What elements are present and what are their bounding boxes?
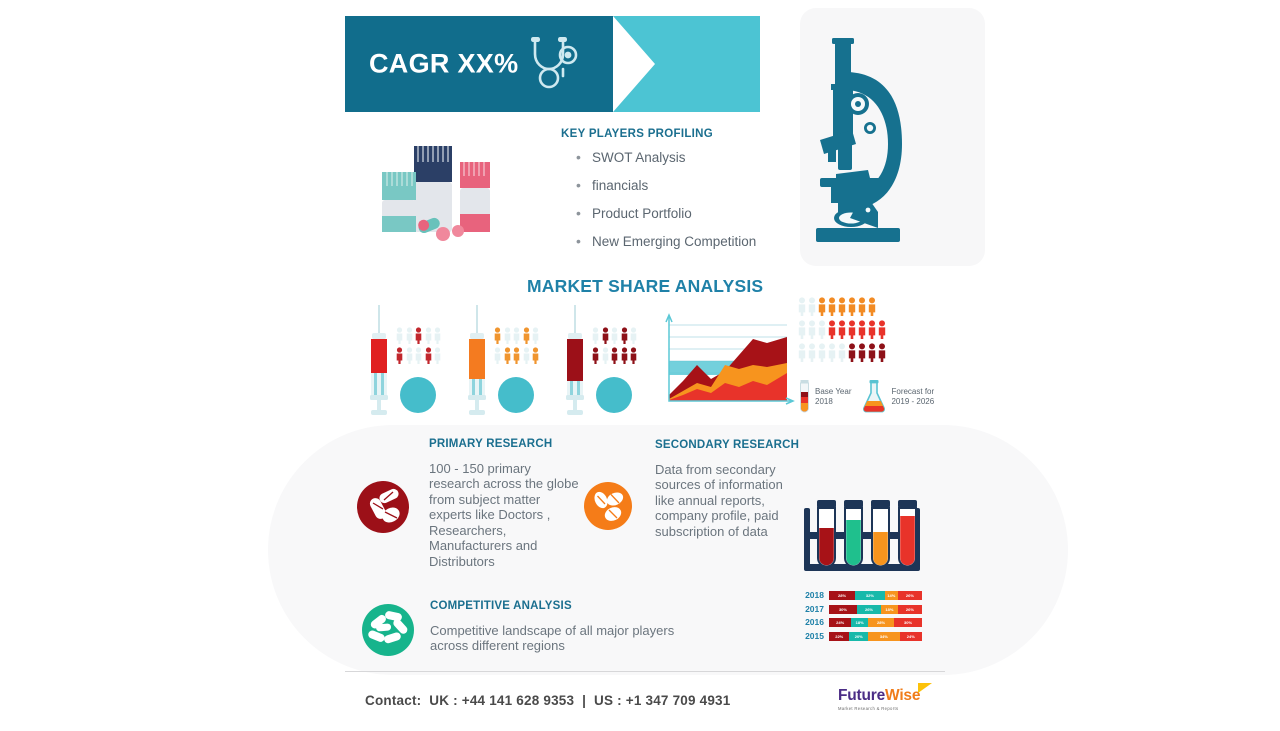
secondary-research-icon bbox=[584, 482, 632, 530]
contact-uk: UK : +44 141 628 9353 bbox=[429, 693, 574, 708]
bar-segment: 24% bbox=[829, 618, 851, 627]
person-icon bbox=[868, 297, 876, 316]
page-title: CAGR XX% bbox=[369, 49, 518, 80]
bar-segment: 28% bbox=[829, 591, 855, 600]
person-icon bbox=[425, 347, 432, 364]
legend-text-forecast: Forecast for 2019 - 2026 bbox=[891, 387, 934, 407]
medicine-bottles-icon bbox=[370, 140, 495, 250]
bar-segment: 26% bbox=[898, 591, 922, 600]
stacked-bar: 28% 32% 14% 26% bbox=[829, 591, 922, 600]
year-label: 2018 bbox=[800, 591, 824, 600]
person-icon bbox=[858, 320, 866, 339]
capsules-circle-icon bbox=[362, 604, 414, 656]
person-icon bbox=[828, 297, 836, 316]
person-icon bbox=[504, 347, 511, 364]
person-icon bbox=[868, 343, 876, 362]
secondary-research-title: SECONDARY RESEARCH bbox=[655, 439, 799, 451]
people-row bbox=[396, 327, 454, 344]
person-icon bbox=[592, 347, 599, 364]
person-icon bbox=[838, 297, 846, 316]
legend-text-base-year: Base Year 2018 bbox=[815, 387, 851, 407]
people-row bbox=[494, 327, 552, 344]
contact-line: Contact: UK : +44 141 628 9353 | US : +1… bbox=[365, 693, 730, 708]
person-icon bbox=[523, 327, 530, 344]
person-icon bbox=[630, 327, 637, 344]
person-icon bbox=[808, 320, 816, 339]
legend-item-base-year: Base Year 2018 bbox=[798, 380, 851, 414]
person-icon bbox=[798, 320, 806, 339]
test-tube-rack-icon bbox=[798, 494, 926, 580]
person-icon bbox=[798, 343, 806, 362]
person-icon bbox=[798, 297, 806, 316]
person-icon bbox=[513, 327, 520, 344]
person-icon bbox=[868, 320, 876, 339]
stacked-bar: 24% 18% 28% 30% bbox=[829, 618, 922, 627]
person-icon bbox=[838, 320, 846, 339]
area-chart bbox=[655, 303, 797, 415]
secondary-research-body: Data from secondary sources of informati… bbox=[655, 462, 800, 539]
bar-segment: 30% bbox=[894, 618, 922, 627]
person-icon bbox=[818, 320, 826, 339]
person-icon bbox=[838, 343, 846, 362]
legend-line-2: 2019 - 2026 bbox=[891, 397, 934, 407]
people-row bbox=[592, 347, 650, 364]
footer-divider bbox=[345, 671, 945, 672]
person-icon bbox=[808, 297, 816, 316]
person-icon bbox=[848, 320, 856, 339]
primary-research-body: 100 - 150 primary research across the gl… bbox=[429, 461, 581, 569]
stacked-bar: 22% 20% 34% 24% bbox=[829, 632, 922, 641]
person-icon bbox=[494, 347, 501, 364]
bar-segment: 18% bbox=[881, 605, 898, 614]
person-icon bbox=[858, 343, 866, 362]
key-players-title: KEY PLAYERS PROFILING bbox=[561, 128, 713, 140]
person-icon bbox=[434, 347, 441, 364]
person-icon bbox=[494, 327, 501, 344]
person-icon bbox=[611, 327, 618, 344]
competitive-analysis-icon bbox=[362, 604, 414, 656]
person-icon bbox=[848, 297, 856, 316]
bar-segment: 32% bbox=[855, 591, 885, 600]
futurewise-logo: FutureWise Market Research & Reports bbox=[838, 688, 930, 714]
logo-flag-icon bbox=[918, 683, 932, 693]
people-pictogram-block bbox=[396, 327, 454, 365]
legend-line-1: Forecast for bbox=[891, 387, 934, 397]
logo-wordmark: FutureWise bbox=[838, 688, 930, 704]
teal-circle bbox=[498, 377, 534, 413]
person-icon bbox=[828, 320, 836, 339]
list-item: New Emerging Competition bbox=[576, 234, 826, 249]
people-grid-row bbox=[798, 343, 916, 362]
person-icon bbox=[878, 343, 886, 362]
year-label: 2017 bbox=[800, 605, 824, 614]
teal-circle bbox=[400, 377, 436, 413]
bar-segment: 24% bbox=[900, 632, 922, 641]
bar-segment: 30% bbox=[829, 605, 857, 614]
person-icon bbox=[532, 327, 539, 344]
bar-segment: 14% bbox=[885, 591, 898, 600]
table-row: 2015 22% 20% 34% 24% bbox=[800, 631, 925, 642]
person-icon bbox=[848, 343, 856, 362]
table-row: 2017 30% 26% 18% 26% bbox=[800, 604, 925, 615]
bar-segment: 34% bbox=[868, 632, 900, 641]
person-icon bbox=[513, 347, 520, 364]
bar-segment: 26% bbox=[857, 605, 881, 614]
logo-tagline: Market Research & Reports bbox=[838, 706, 930, 711]
test-tube-icon bbox=[798, 380, 811, 414]
primary-research-icon bbox=[357, 481, 409, 533]
pills-circle-icon bbox=[357, 481, 409, 533]
person-icon bbox=[621, 327, 628, 344]
chart-legend: Base Year 2018 Forecast for 2019 - 2026 bbox=[798, 378, 943, 416]
list-item: financials bbox=[576, 178, 826, 193]
bar-segment: 22% bbox=[829, 632, 849, 641]
teal-circle bbox=[596, 377, 632, 413]
people-pictogram-block bbox=[592, 327, 650, 365]
people-grid bbox=[798, 297, 916, 371]
syringe-stat-unit bbox=[458, 305, 554, 417]
syringe-stats-group bbox=[360, 305, 650, 417]
person-icon bbox=[523, 347, 530, 364]
person-icon bbox=[425, 327, 432, 344]
microscope-icon bbox=[806, 22, 924, 252]
syringe-icon bbox=[562, 305, 588, 417]
contact-us: US : +1 347 709 4931 bbox=[594, 693, 730, 708]
person-icon bbox=[415, 327, 422, 344]
person-icon bbox=[878, 320, 886, 339]
person-icon bbox=[621, 347, 628, 364]
flask-icon bbox=[861, 380, 887, 414]
stethoscope-icon bbox=[521, 32, 585, 96]
person-icon bbox=[602, 347, 609, 364]
competitive-analysis-body: Competitive landscape of all major playe… bbox=[430, 623, 705, 654]
syringe-stat-unit bbox=[360, 305, 456, 417]
person-icon bbox=[630, 347, 637, 364]
person-icon bbox=[818, 297, 826, 316]
person-icon bbox=[808, 343, 816, 362]
people-row bbox=[494, 347, 552, 364]
person-icon bbox=[406, 327, 413, 344]
contact-separator: | bbox=[582, 693, 586, 708]
bar-segment: 20% bbox=[849, 632, 868, 641]
contact-label: Contact: bbox=[365, 693, 421, 708]
people-row bbox=[396, 347, 454, 364]
bar-segment: 26% bbox=[898, 605, 922, 614]
syringe-stat-unit bbox=[556, 305, 652, 417]
person-icon bbox=[396, 347, 403, 364]
person-icon bbox=[592, 327, 599, 344]
key-players-list: SWOT Analysis financials Product Portfol… bbox=[576, 150, 826, 262]
person-icon bbox=[858, 297, 866, 316]
list-item: Product Portfolio bbox=[576, 206, 826, 221]
person-icon bbox=[415, 347, 422, 364]
person-icon bbox=[504, 327, 511, 344]
people-row bbox=[592, 327, 650, 344]
legend-item-forecast: Forecast for 2019 - 2026 bbox=[861, 380, 934, 414]
logo-first-part: Future bbox=[838, 687, 885, 704]
person-icon bbox=[818, 343, 826, 362]
stacked-bar: 30% 26% 18% 26% bbox=[829, 605, 922, 614]
cagr-banner: CAGR XX% bbox=[345, 16, 760, 112]
infographic-canvas: CAGR XX% KEY PLAYERS PROFILING SWOT Anal… bbox=[0, 0, 1280, 731]
banner-light-panel bbox=[613, 16, 760, 112]
people-grid-row bbox=[798, 297, 916, 316]
syringe-icon bbox=[464, 305, 490, 417]
person-icon bbox=[828, 343, 836, 362]
legend-line-1: Base Year bbox=[815, 387, 851, 397]
person-icon bbox=[396, 327, 403, 344]
syringe-icon bbox=[366, 305, 392, 417]
table-row: 2016 24% 18% 28% 30% bbox=[800, 617, 925, 628]
people-pictogram-block bbox=[494, 327, 552, 365]
table-row: 2018 28% 32% 14% 26% bbox=[800, 590, 925, 601]
legend-line-2: 2018 bbox=[815, 397, 851, 407]
logo-second-part: Wise bbox=[885, 687, 920, 704]
primary-research-title: PRIMARY RESEARCH bbox=[429, 438, 552, 450]
competitive-analysis-title: COMPETITIVE ANALYSIS bbox=[430, 600, 572, 612]
person-icon bbox=[611, 347, 618, 364]
person-icon bbox=[532, 347, 539, 364]
bar-segment: 18% bbox=[851, 618, 868, 627]
person-icon bbox=[602, 327, 609, 344]
year-label: 2015 bbox=[800, 632, 824, 641]
people-grid-row bbox=[798, 320, 916, 339]
list-item: SWOT Analysis bbox=[576, 150, 826, 165]
pills-circle-icon bbox=[584, 482, 632, 530]
year-share-chart: 2018 28% 32% 14% 26% 2017 30% 26% 18% 26… bbox=[800, 590, 925, 644]
person-icon bbox=[434, 327, 441, 344]
bar-segment: 28% bbox=[868, 618, 894, 627]
market-share-title: MARKET SHARE ANALYSIS bbox=[527, 276, 763, 297]
year-label: 2016 bbox=[800, 618, 824, 627]
person-icon bbox=[406, 347, 413, 364]
